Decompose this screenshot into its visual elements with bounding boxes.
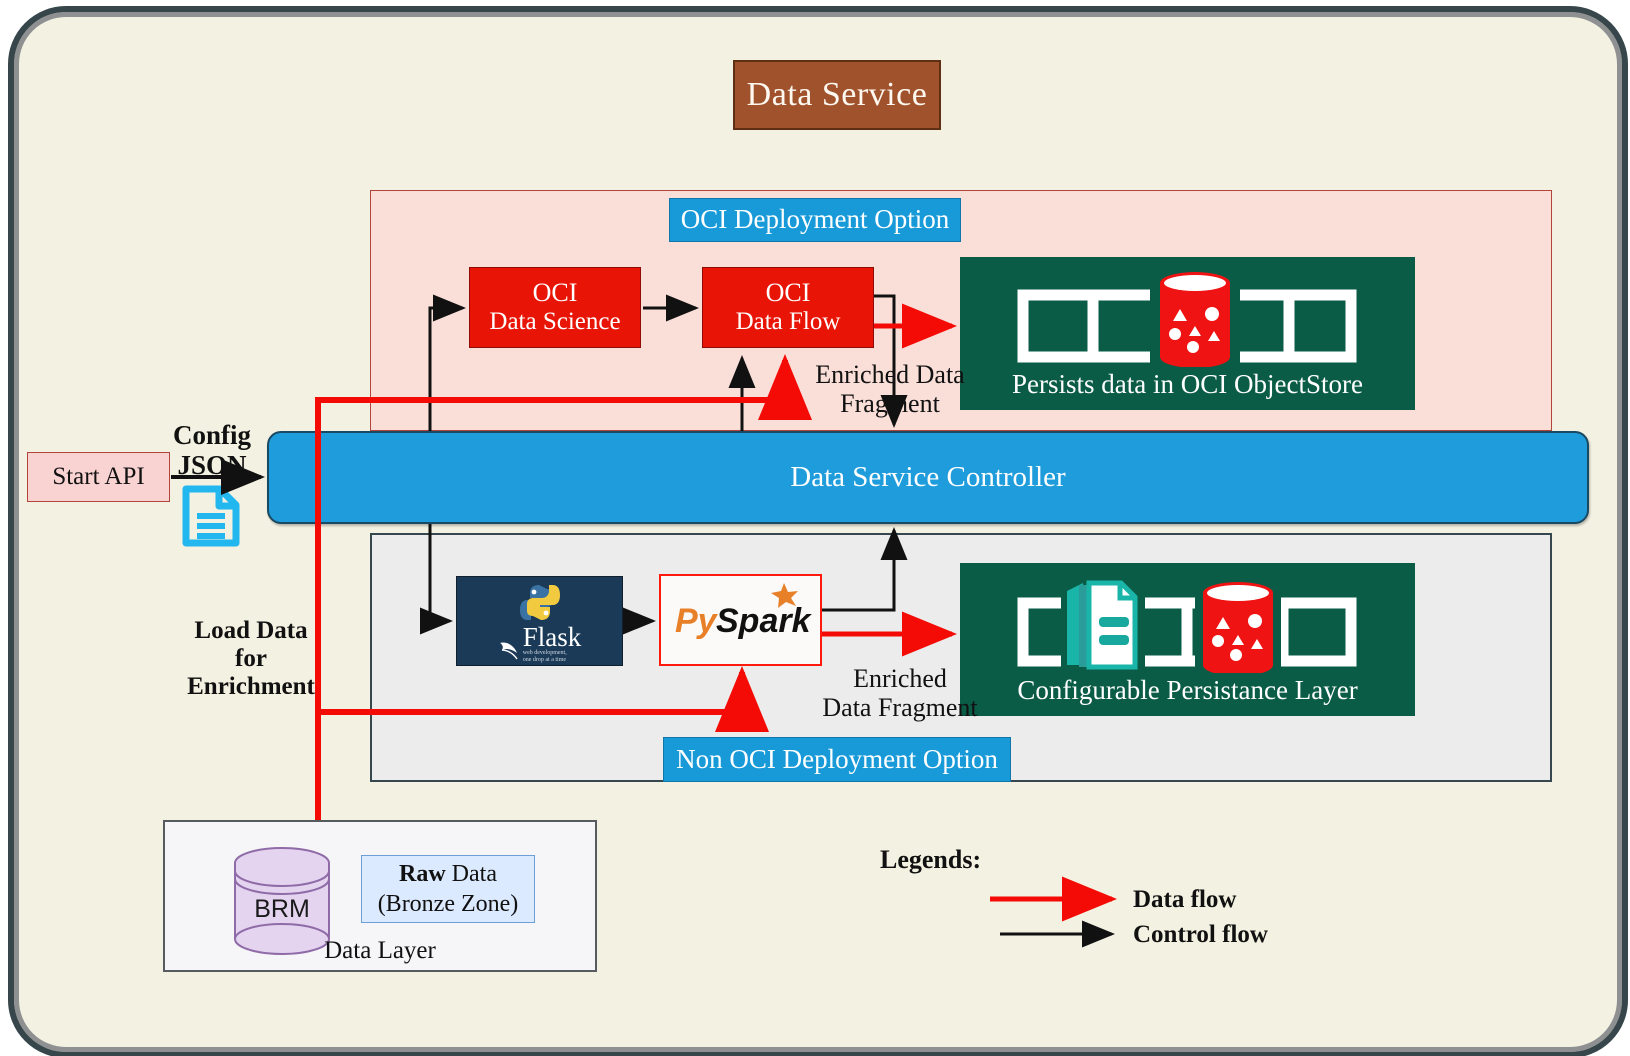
connector-layer xyxy=(0,0,1630,1056)
arrow-pyspark-to-controller xyxy=(822,530,894,610)
dataflow-trunk-to-oci xyxy=(318,360,785,820)
dataflow-trunk-to-pyspark xyxy=(318,672,742,712)
arrow-data-flow-to-controller xyxy=(874,296,894,425)
arrow-controller-to-flask xyxy=(430,524,450,621)
arrow-controller-to-data-science xyxy=(430,308,463,431)
diagram-canvas: Data Service OCI Deployment Option Non O… xyxy=(0,0,1630,1056)
